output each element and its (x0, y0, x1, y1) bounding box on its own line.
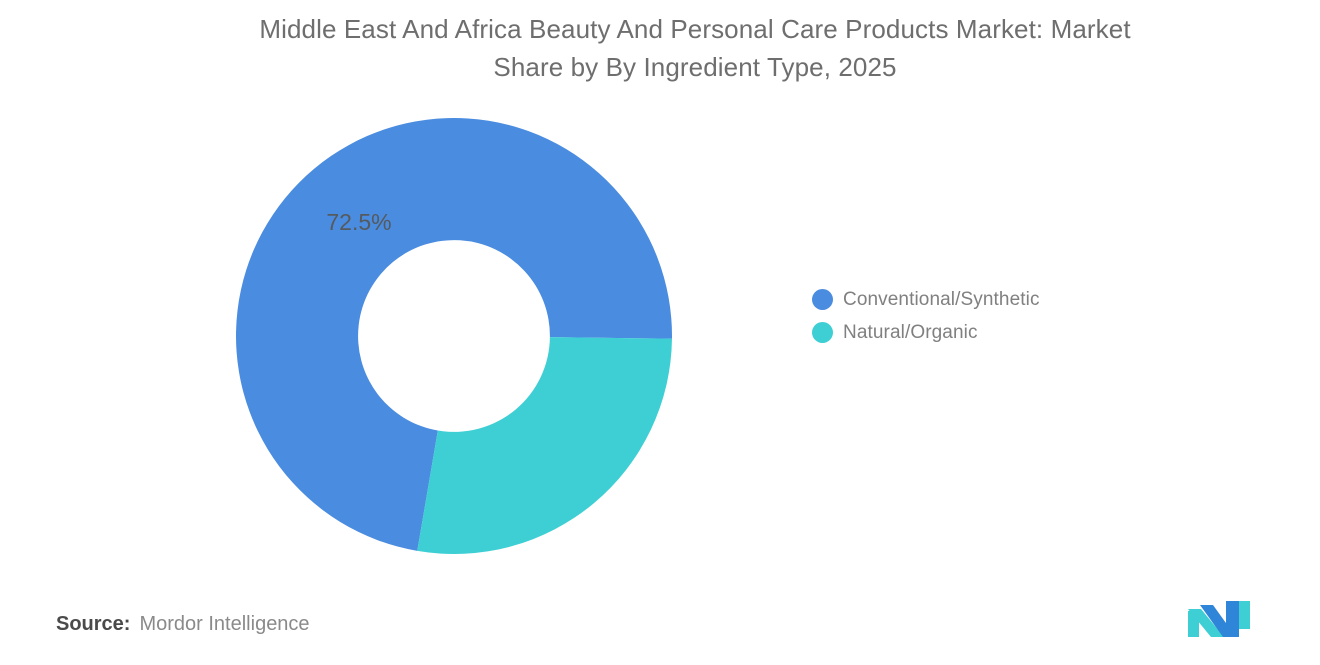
source-line: Source: Mordor Intelligence (56, 613, 310, 636)
source-value: Mordor Intelligence (139, 613, 309, 636)
legend-swatch-icon (812, 289, 833, 310)
donut-slice-natural-organic[interactable] (417, 337, 672, 554)
chart-title: Middle East And Africa Beauty And Person… (150, 10, 1240, 86)
chart-title-line-2: Share by By Ingredient Type, 2025 (150, 48, 1240, 86)
mordor-intelligence-logo-icon (1186, 599, 1252, 639)
legend-item-natural-organic[interactable]: Natural/Organic (812, 316, 1142, 349)
donut-slice-label-conventional-synthetic: 72.5% (300, 209, 418, 236)
donut-chart (236, 118, 672, 554)
chart-legend: Conventional/Synthetic Natural/Organic (812, 283, 1142, 349)
legend-item-label: Natural/Organic (843, 322, 978, 344)
logo-mark-svg (1186, 599, 1252, 639)
legend-item-label: Conventional/Synthetic (843, 289, 1040, 311)
chart-title-line-1: Middle East And Africa Beauty And Person… (150, 10, 1240, 48)
donut-chart-svg (236, 118, 672, 554)
legend-swatch-icon (812, 322, 833, 343)
chart-card: Middle East And Africa Beauty And Person… (0, 0, 1320, 665)
legend-item-conventional-synthetic[interactable]: Conventional/Synthetic (812, 283, 1142, 316)
source-label: Source: (56, 613, 130, 636)
donut-slices (236, 118, 672, 554)
